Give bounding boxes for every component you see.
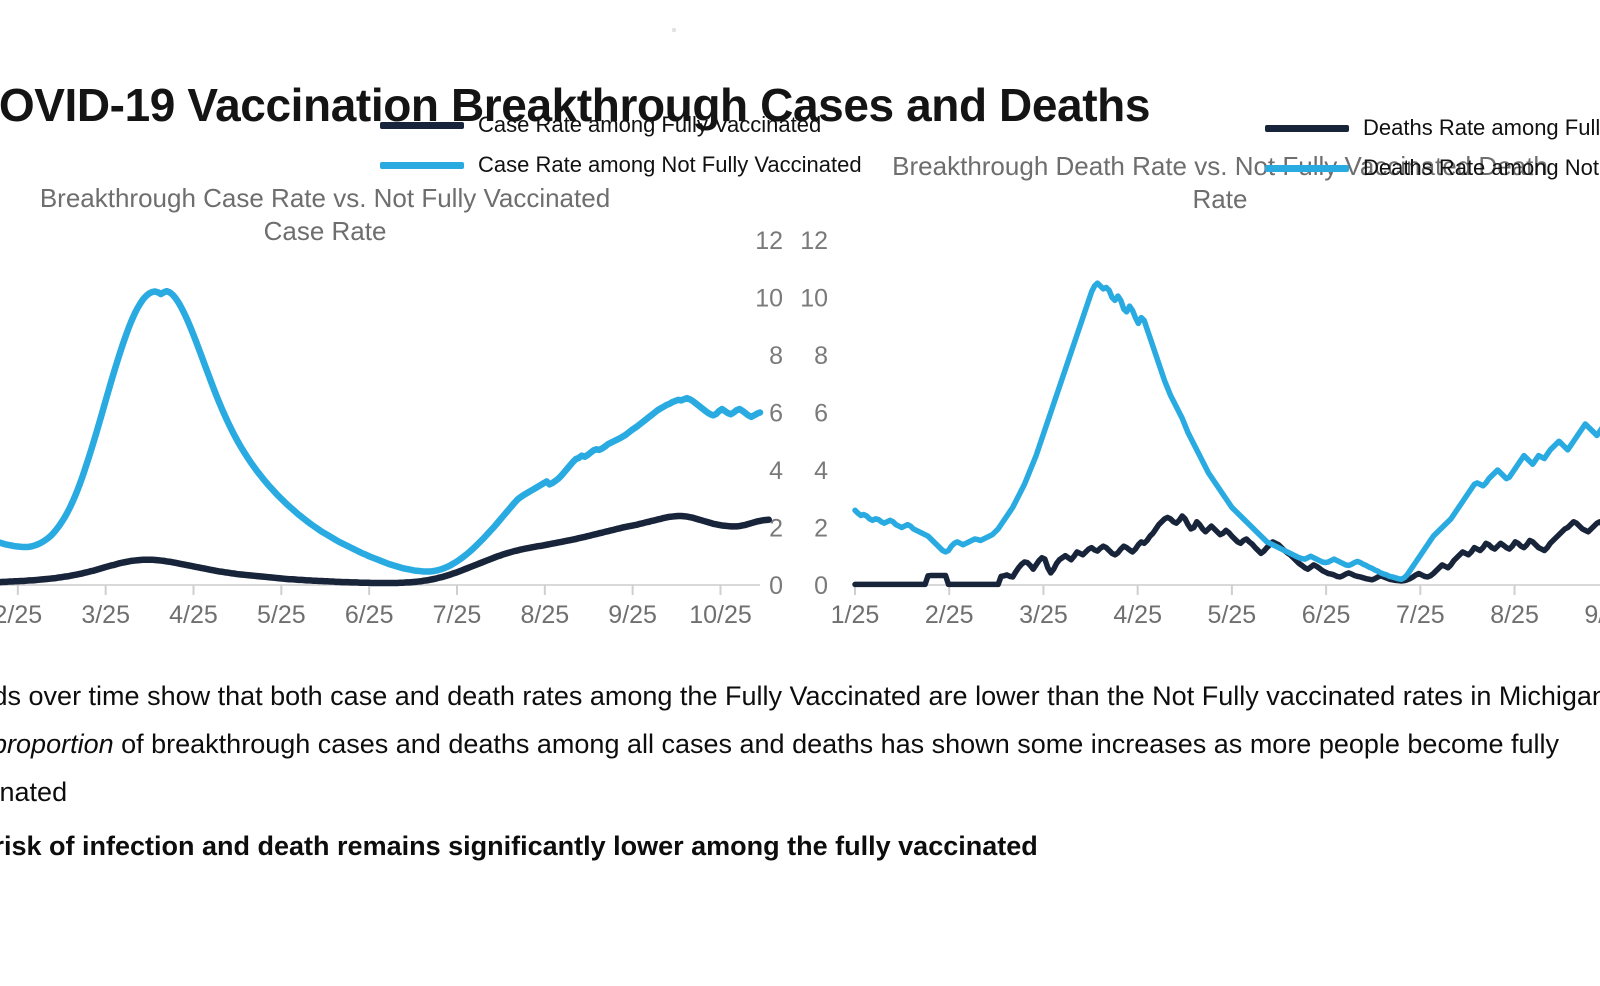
svg-text:10: 10 — [800, 285, 828, 313]
svg-text:6: 6 — [814, 400, 828, 428]
legend-item-fully-vaccinated-cases[interactable]: Case Rate among Fully Vaccinated — [380, 112, 862, 138]
svg-text:7/25: 7/25 — [433, 601, 482, 629]
svg-text:6: 6 — [769, 400, 783, 428]
svg-text:7/25: 7/25 — [1396, 601, 1445, 629]
svg-text:6/25: 6/25 — [1302, 601, 1351, 629]
svg-text:5/25: 5/25 — [257, 601, 306, 629]
bullet-1: Trends over time show that both case and… — [0, 672, 1600, 720]
svg-text:2/25: 2/25 — [925, 601, 974, 629]
legend-item-not-fully-vaccinated-cases[interactable]: Case Rate among Not Fully Vaccinated — [380, 152, 862, 178]
svg-text:4: 4 — [814, 457, 828, 485]
svg-text:6/25: 6/25 — [345, 601, 394, 629]
legend-label-fully-vaccinated-cases: Case Rate among Fully Vaccinated — [478, 112, 821, 138]
svg-text:12: 12 — [800, 227, 828, 255]
legend-item-fully-vaccinated-deaths[interactable]: Deaths Rate among Fully Vaccinated — [1265, 115, 1600, 141]
slide-canvas: COVID-19 Vaccination Breakthrough Cases … — [0, 0, 1600, 986]
svg-text:1/25: 1/25 — [831, 601, 880, 629]
svg-text:8/25: 8/25 — [520, 601, 569, 629]
legend-label-fully-vaccinated-deaths: Deaths Rate among Fully Vaccinated — [1363, 115, 1600, 141]
svg-text:12: 12 — [755, 227, 783, 255]
svg-text:2: 2 — [814, 515, 828, 543]
bullet-2: The proportion of breakthrough cases and… — [0, 720, 1600, 816]
legend-swatch-blue — [1265, 165, 1349, 172]
summary-bullets: Trends over time show that both case and… — [0, 672, 1600, 870]
svg-text:8: 8 — [769, 342, 783, 370]
legend-swatch-blue — [380, 162, 464, 169]
svg-text:5/25: 5/25 — [1208, 601, 1257, 629]
death-rate-legend: Deaths Rate among Fully Vaccinated Death… — [1265, 115, 1600, 181]
legend-label-not-fully-vaccinated-deaths: Deaths Rate among Not Fully Vaccinated — [1363, 155, 1600, 181]
case-rate-legend: Case Rate among Fully Vaccinated Case Ra… — [380, 112, 862, 178]
svg-text:10/25: 10/25 — [689, 601, 752, 629]
death-rate-panel: Breakthrough Death Rate vs. Not Fully Va… — [820, 140, 1600, 640]
svg-text:9/25: 9/25 — [608, 601, 657, 629]
svg-text:0: 0 — [814, 572, 828, 600]
svg-text:0: 0 — [769, 572, 783, 600]
svg-text:9/25: 9/25 — [1584, 601, 1600, 629]
svg-text:4: 4 — [769, 457, 783, 485]
case-rate-panel: Breakthrough Case Rate vs. Not Fully Vac… — [0, 140, 800, 640]
svg-text:3/25: 3/25 — [1019, 601, 1068, 629]
legend-swatch-dark — [380, 122, 464, 129]
legend-item-not-fully-vaccinated-deaths[interactable]: Deaths Rate among Not Fully Vaccinated — [1265, 155, 1600, 181]
svg-text:4/25: 4/25 — [169, 601, 218, 629]
legend-label-not-fully-vaccinated-cases: Case Rate among Not Fully Vaccinated — [478, 152, 862, 178]
svg-text:4/25: 4/25 — [1113, 601, 1162, 629]
svg-text:8: 8 — [814, 342, 828, 370]
bullet-3: The risk of infection and death remains … — [0, 822, 1600, 870]
legend-swatch-dark — [1265, 125, 1349, 132]
svg-text:2/25: 2/25 — [0, 601, 42, 629]
svg-text:10: 10 — [755, 285, 783, 313]
death-rate-chart: 0246810121/252/253/254/255/256/257/258/2… — [820, 140, 1600, 640]
svg-text:8/25: 8/25 — [1490, 601, 1539, 629]
artifact-dot — [672, 28, 676, 32]
svg-text:3/25: 3/25 — [81, 601, 130, 629]
case-rate-chart: 0246810121/252/253/254/255/256/257/258/2… — [0, 140, 800, 640]
